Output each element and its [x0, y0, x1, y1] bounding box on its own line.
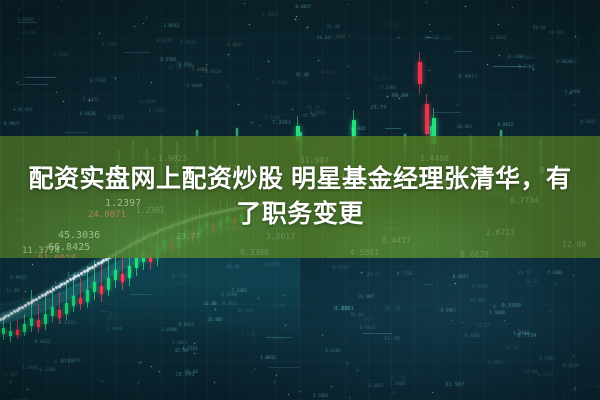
headline-overlay-band: 1.239724.007145.303666.842511.377451.691… [0, 136, 600, 258]
band-data-numbers: 1.239724.007145.303666.842511.377451.691… [0, 136, 600, 258]
band-number: 18.442 [438, 178, 467, 187]
cover-image: 45.3012.081.093266.840.773423.772.67134.… [0, 0, 600, 400]
band-number: 1.2391 [136, 206, 165, 215]
band-number: 0.4417 [382, 236, 411, 245]
band-number: 51.6918 [38, 254, 76, 258]
band-number: 12.08 [562, 240, 586, 249]
band-number: 45.3036 [58, 230, 100, 241]
band-number: 23.77 [176, 232, 200, 241]
band-number: 7.3361 [330, 170, 359, 179]
band-number: 4.5561 [350, 248, 379, 257]
band-number: 1.9023 [158, 154, 187, 163]
band-number: 2.6713 [486, 228, 515, 237]
band-number: 0.6628 [460, 250, 489, 258]
band-number: 0.8412 [208, 164, 237, 173]
band-number: 1.4408 [420, 154, 449, 163]
band-number: 3.2017 [266, 232, 295, 241]
band-number: 0.3390 [240, 248, 269, 257]
band-number: 24.0071 [88, 210, 126, 220]
band-number: 31.907 [300, 156, 329, 165]
band-number: 0.7734 [510, 196, 539, 205]
band-number: 0.9925 [540, 166, 569, 175]
